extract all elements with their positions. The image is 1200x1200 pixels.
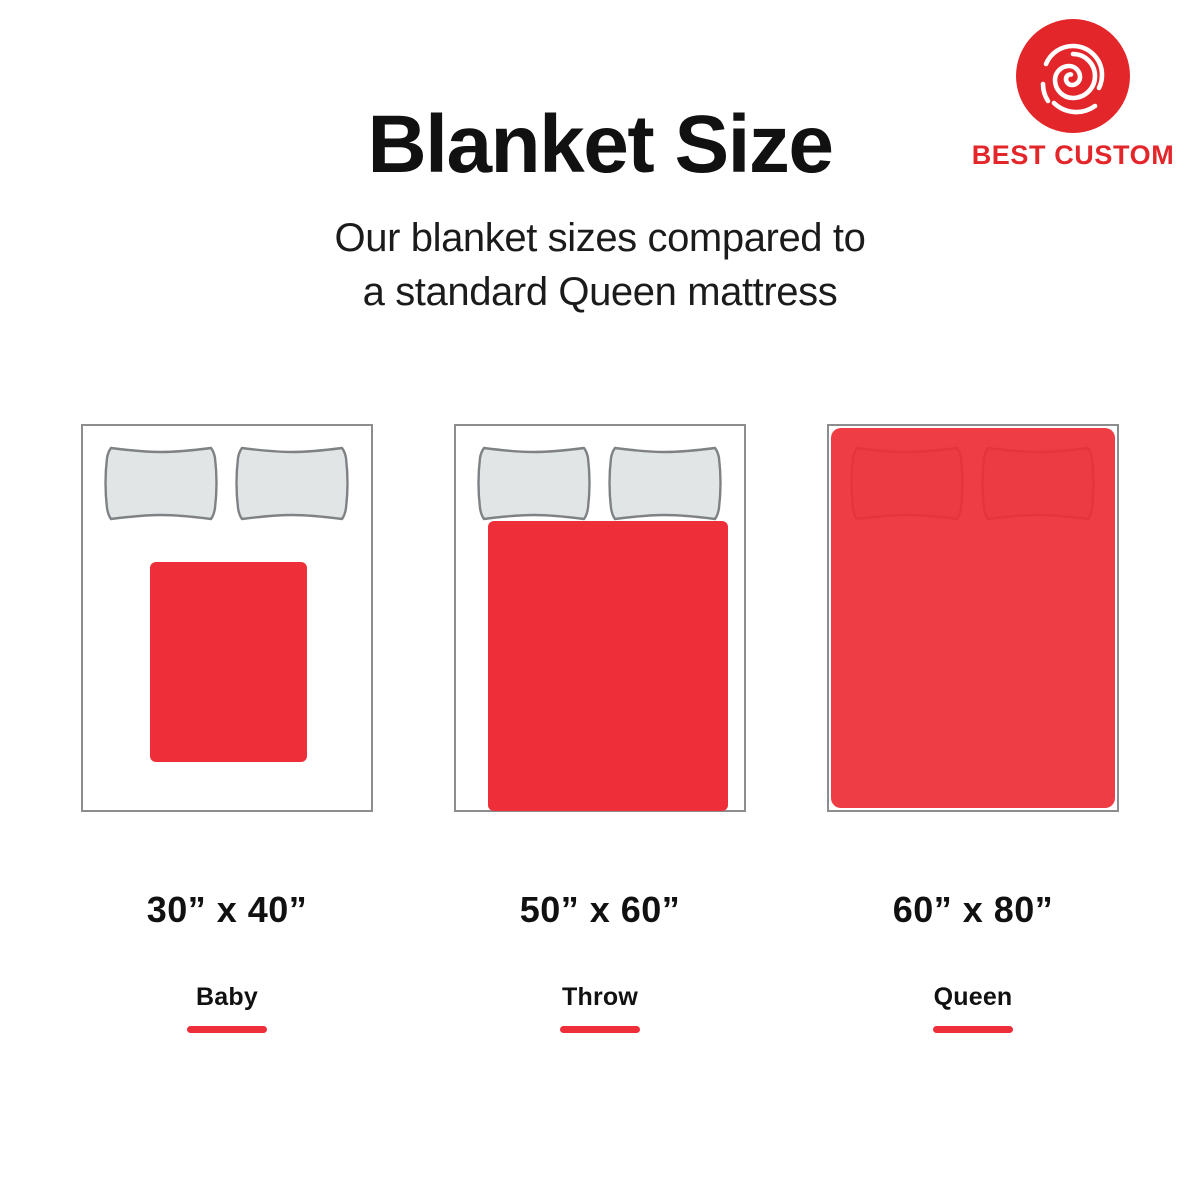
size-name-label: Throw	[454, 985, 746, 1010]
accent-underline	[560, 1026, 640, 1033]
blanket-swatch-throw	[488, 521, 728, 811]
accent-underline	[187, 1026, 267, 1033]
caption-throw: 50” x 60” Throw	[454, 892, 746, 1033]
infographic-canvas: BEST CUSTOM Blanket Size Our blanket siz…	[0, 0, 1200, 1200]
bed-diagram-queen	[827, 424, 1119, 812]
caption-row: 30” x 40” Baby 50” x 60” Throw 60” x 80”…	[0, 892, 1200, 1052]
pillow-icon	[477, 444, 591, 522]
bed-diagram-throw	[454, 424, 746, 812]
page-subtitle: Our blanket sizes compared to a standard…	[0, 212, 1200, 319]
blanket-swatch-baby	[150, 562, 307, 762]
page-title: Blanket Size	[0, 104, 1200, 186]
pillow-icon	[235, 444, 349, 522]
blanket-swatch-queen	[831, 428, 1115, 808]
headline-block: Blanket Size Our blanket sizes compared …	[0, 104, 1200, 319]
caption-queen: 60” x 80” Queen	[827, 892, 1119, 1033]
size-name-label: Queen	[827, 985, 1119, 1010]
dimensions-label: 60” x 80”	[827, 892, 1119, 928]
pillow-icon	[104, 444, 218, 522]
pillow-icon	[608, 444, 722, 522]
caption-baby: 30” x 40” Baby	[81, 892, 373, 1033]
dimensions-label: 30” x 40”	[81, 892, 373, 928]
dimensions-label: 50” x 60”	[454, 892, 746, 928]
accent-underline	[933, 1026, 1013, 1033]
bed-diagram-baby	[81, 424, 373, 812]
size-name-label: Baby	[81, 985, 373, 1010]
bed-diagram-row	[0, 424, 1200, 814]
